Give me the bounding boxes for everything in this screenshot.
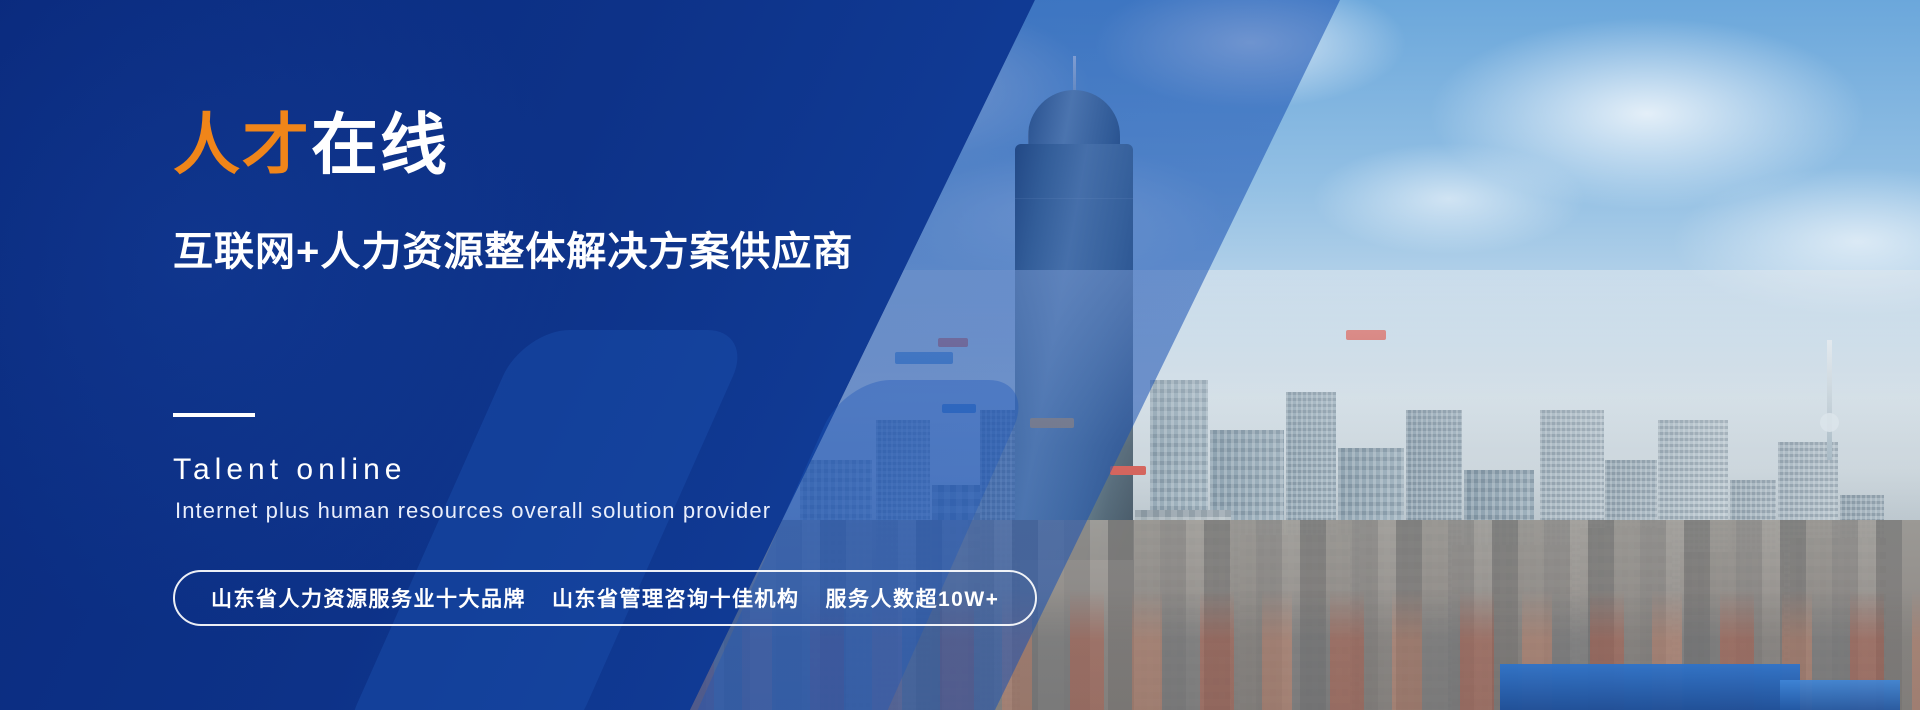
badge-item-1: 山东省人力资源服务业十大品牌	[211, 583, 526, 613]
hero-banner: 人才在线 互联网+人力资源整体解决方案供应商 Talent online Int…	[0, 0, 1920, 710]
hero-title-rest: 在线	[311, 108, 449, 183]
hero-title-highlight: 人才	[173, 108, 311, 183]
hero-title: 人才在线	[173, 112, 449, 179]
blue-roof	[1780, 680, 1900, 710]
divider-rule	[173, 413, 255, 417]
hero-subtitle: 互联网+人力资源整体解决方案供应商	[173, 232, 853, 272]
badge-item-3: 服务人数超10W+	[826, 583, 1000, 613]
credentials-badge: 山东省人力资源服务业十大品牌山东省管理咨询十佳机构服务人数超10W+	[173, 570, 1037, 626]
hero-english-title: Talent online	[173, 455, 406, 485]
hero-content: 人才在线 互联网+人力资源整体解决方案供应商 Talent online Int…	[0, 0, 1100, 710]
blue-roof	[1500, 664, 1800, 710]
badge-item-2: 山东省管理咨询十佳机构	[552, 583, 800, 613]
hero-english-subtitle: Internet plus human resources overall so…	[175, 500, 771, 522]
